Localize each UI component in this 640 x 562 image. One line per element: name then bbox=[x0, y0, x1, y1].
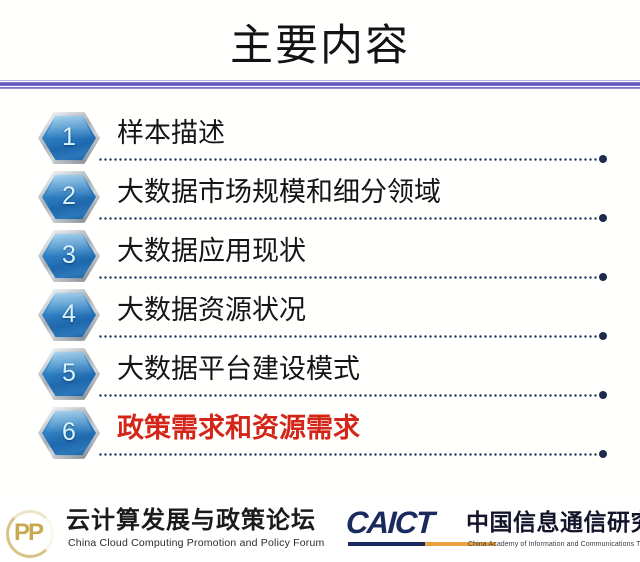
leader-dots bbox=[98, 335, 598, 338]
pp-monogram-label: PP bbox=[14, 519, 42, 547]
list-item[interactable]: 2 大数据市场规模和细分领域 bbox=[0, 167, 640, 226]
list-item-label: 大数据市场规模和细分领域 bbox=[117, 171, 441, 215]
leader-end-dot bbox=[599, 450, 607, 458]
rule-line-bottom bbox=[0, 87, 640, 89]
leader-end-dot bbox=[599, 155, 607, 163]
leader-end-dot bbox=[599, 273, 607, 281]
hexagon-badge-1: 1 bbox=[38, 111, 100, 165]
slide-header: 主要内容 bbox=[0, 0, 640, 82]
list-item[interactable]: 5 大数据平台建设模式 bbox=[0, 344, 640, 403]
badge-number: 4 bbox=[38, 288, 100, 342]
hexagon-badge-3: 3 bbox=[38, 229, 100, 283]
leader-dots bbox=[98, 217, 598, 220]
slide-canvas: 主要内容 1 样本描述 2 大数据市场规模和 bbox=[0, 0, 640, 562]
forum-name-en: China Cloud Computing Promotion and Poli… bbox=[68, 537, 324, 550]
rule-line-top bbox=[0, 80, 640, 81]
list-item[interactable]: 4 大数据资源状况 bbox=[0, 285, 640, 344]
badge-number: 6 bbox=[38, 406, 100, 460]
list-item[interactable]: 1 样本描述 bbox=[0, 108, 640, 167]
caict-logo: CAICT 中国信息通信研究院 China Academy of Informa… bbox=[346, 506, 638, 558]
badge-number: 2 bbox=[38, 170, 100, 224]
hexagon-badge-6: 6 bbox=[38, 406, 100, 460]
leader-dots bbox=[98, 158, 598, 161]
list-item-label: 大数据平台建设模式 bbox=[117, 348, 360, 392]
leader-end-dot bbox=[599, 214, 607, 222]
leader-end-dot bbox=[599, 332, 607, 340]
leader-dots bbox=[98, 276, 598, 279]
caict-name-en: China Academy of Information and Communi… bbox=[468, 540, 640, 550]
table-of-contents-list: 1 样本描述 2 大数据市场规模和细分领域 3 大数据 bbox=[0, 108, 640, 462]
hexagon-badge-4: 4 bbox=[38, 288, 100, 342]
leader-end-dot bbox=[599, 391, 607, 399]
slide-footer: PP 云计算发展与政策论坛 China Cloud Computing Prom… bbox=[0, 500, 640, 562]
list-item-label: 政策需求和资源需求 bbox=[117, 407, 360, 451]
hexagon-badge-2: 2 bbox=[38, 170, 100, 224]
forum-name-cn: 云计算发展与政策论坛 bbox=[66, 505, 316, 535]
title-divider-rule bbox=[0, 80, 640, 91]
list-item-label: 大数据资源状况 bbox=[117, 289, 306, 333]
badge-number: 5 bbox=[38, 347, 100, 401]
leader-dots bbox=[98, 394, 598, 397]
caict-name-cn: 中国信息通信研究院 bbox=[466, 508, 640, 538]
hexagon-badge-5: 5 bbox=[38, 347, 100, 401]
caict-abbreviation: CAICT bbox=[345, 506, 434, 540]
list-item-label: 样本描述 bbox=[117, 112, 225, 156]
page-title: 主要内容 bbox=[0, 20, 640, 72]
list-item[interactable]: 6 政策需求和资源需求 bbox=[0, 403, 640, 462]
leader-dots bbox=[98, 453, 598, 456]
badge-number: 1 bbox=[38, 111, 100, 165]
list-item-label: 大数据应用现状 bbox=[117, 230, 306, 274]
list-item[interactable]: 3 大数据应用现状 bbox=[0, 226, 640, 285]
badge-number: 3 bbox=[38, 229, 100, 283]
pp-monogram-icon: PP bbox=[6, 508, 62, 554]
forum-logo: PP 云计算发展与政策论坛 China Cloud Computing Prom… bbox=[6, 504, 306, 558]
